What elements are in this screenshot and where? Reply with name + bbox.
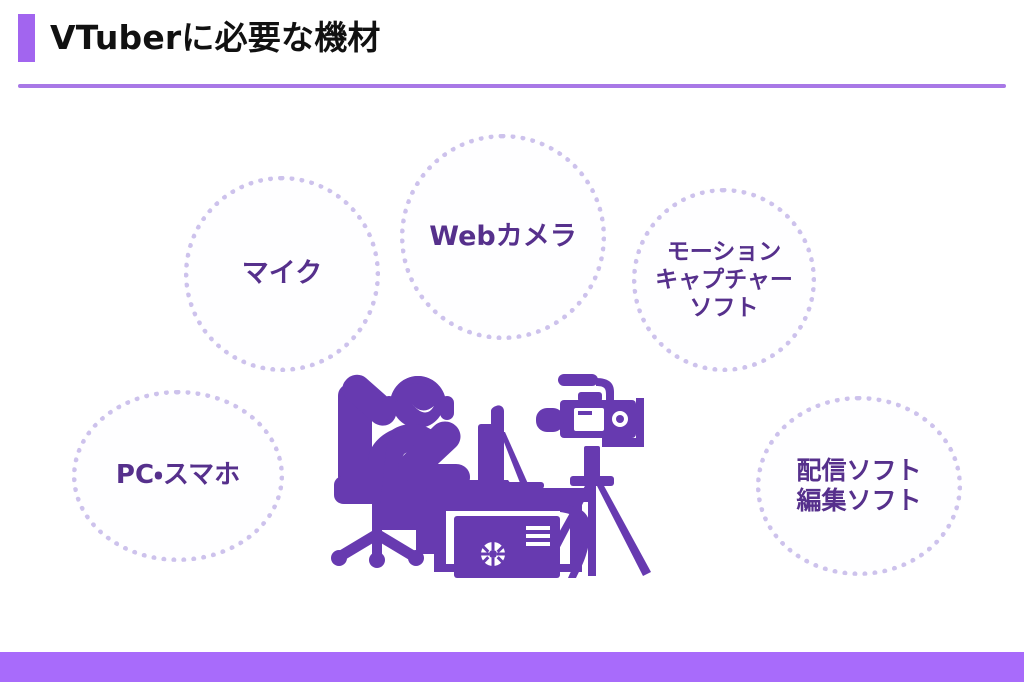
bubble-software-line-1: 配信ソフト [796,456,921,485]
bubble-mic-label: マイク [236,258,328,291]
bubble-mic-line-1: マイク [242,258,322,289]
bubble-mocap-label: モーション キャプチャー ソフト [649,238,799,322]
title-accent-bar [18,14,35,62]
bubble-software-line-2: 編集ソフト [796,486,921,515]
slide-canvas: VTuberに必要な機材 マイク Webカメラ モーション キャプチャー ソフト… [0,0,1024,682]
bubble-pc-line-1: PC・スマホ [116,460,240,490]
bubble-mic[interactable]: マイク [184,176,380,372]
bubble-pc-label: PC・スマホ [110,460,246,492]
title-divider-rule [18,84,1006,88]
monitor-icon [478,405,544,489]
bubble-mocap[interactable]: モーション キャプチャー ソフト [632,188,816,372]
bubble-software-label: 配信ソフト 編集ソフト [790,456,927,517]
keyboard-icon [442,480,514,488]
bubble-software[interactable]: 配信ソフト 編集ソフト [756,396,962,576]
page-title: VTuberに必要な機材 [50,12,381,64]
vtuber-desk-setup-illustration [330,368,690,593]
bubble-webcam[interactable]: Webカメラ [400,134,606,340]
bubble-pc[interactable]: PC・スマホ [72,390,284,562]
slide-header: VTuberに必要な機材 [0,0,1024,92]
bubble-webcam-label: Webカメラ [423,221,582,254]
bubble-webcam-line-1: Webカメラ [429,221,576,252]
bubble-mocap-line-1: モーション [667,239,782,265]
bubble-mocap-line-2: キャプチャー [655,267,793,293]
bubble-mocap-line-3: ソフト [690,295,759,321]
footer-accent-bar [0,652,1024,682]
video-camera-icon [536,374,644,447]
